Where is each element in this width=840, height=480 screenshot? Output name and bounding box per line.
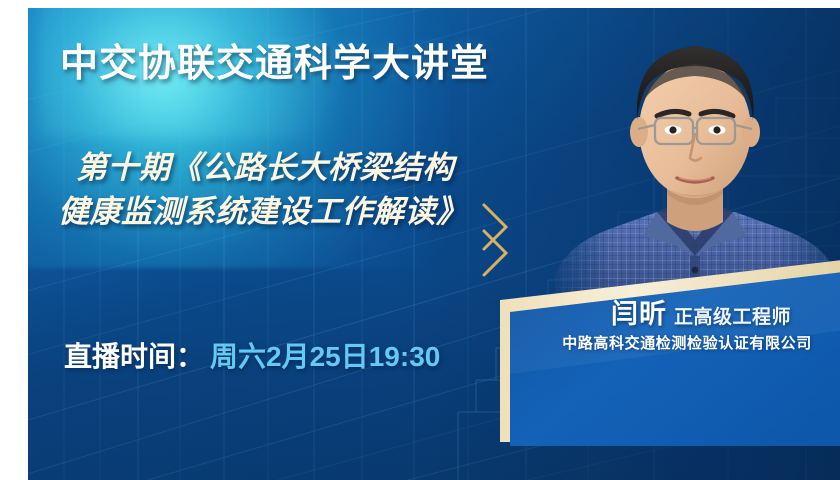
speaker-info-panel: 闫昕正高级工程师 中路高科交通检测检验认证有限公司: [476, 256, 840, 441]
poster-banner: 中交协联交通科学大讲堂 第十期《公路长大桥梁结构 健康监测系统建设工作解读》 直…: [28, 8, 840, 480]
episode-subtitle-line-1: 第十期《公路长大桥梁结构: [58, 146, 578, 190]
episode-subtitle-line-2: 健康监测系统建设工作解读》: [58, 190, 578, 234]
live-time-row: 直播时间：周六2月25日19:30: [64, 335, 440, 375]
poster-root: 中交协联交通科学大讲堂 第十期《公路长大桥梁结构 健康监测系统建设工作解读》 直…: [0, 0, 840, 480]
live-time-label: 直播时间：: [64, 341, 204, 372]
live-time-value: 周六2月25日19:30: [210, 341, 440, 372]
page-title: 中交协联交通科学大讲堂: [60, 32, 489, 87]
episode-subtitle: 第十期《公路长大桥梁结构 健康监测系统建设工作解读》: [58, 146, 578, 234]
